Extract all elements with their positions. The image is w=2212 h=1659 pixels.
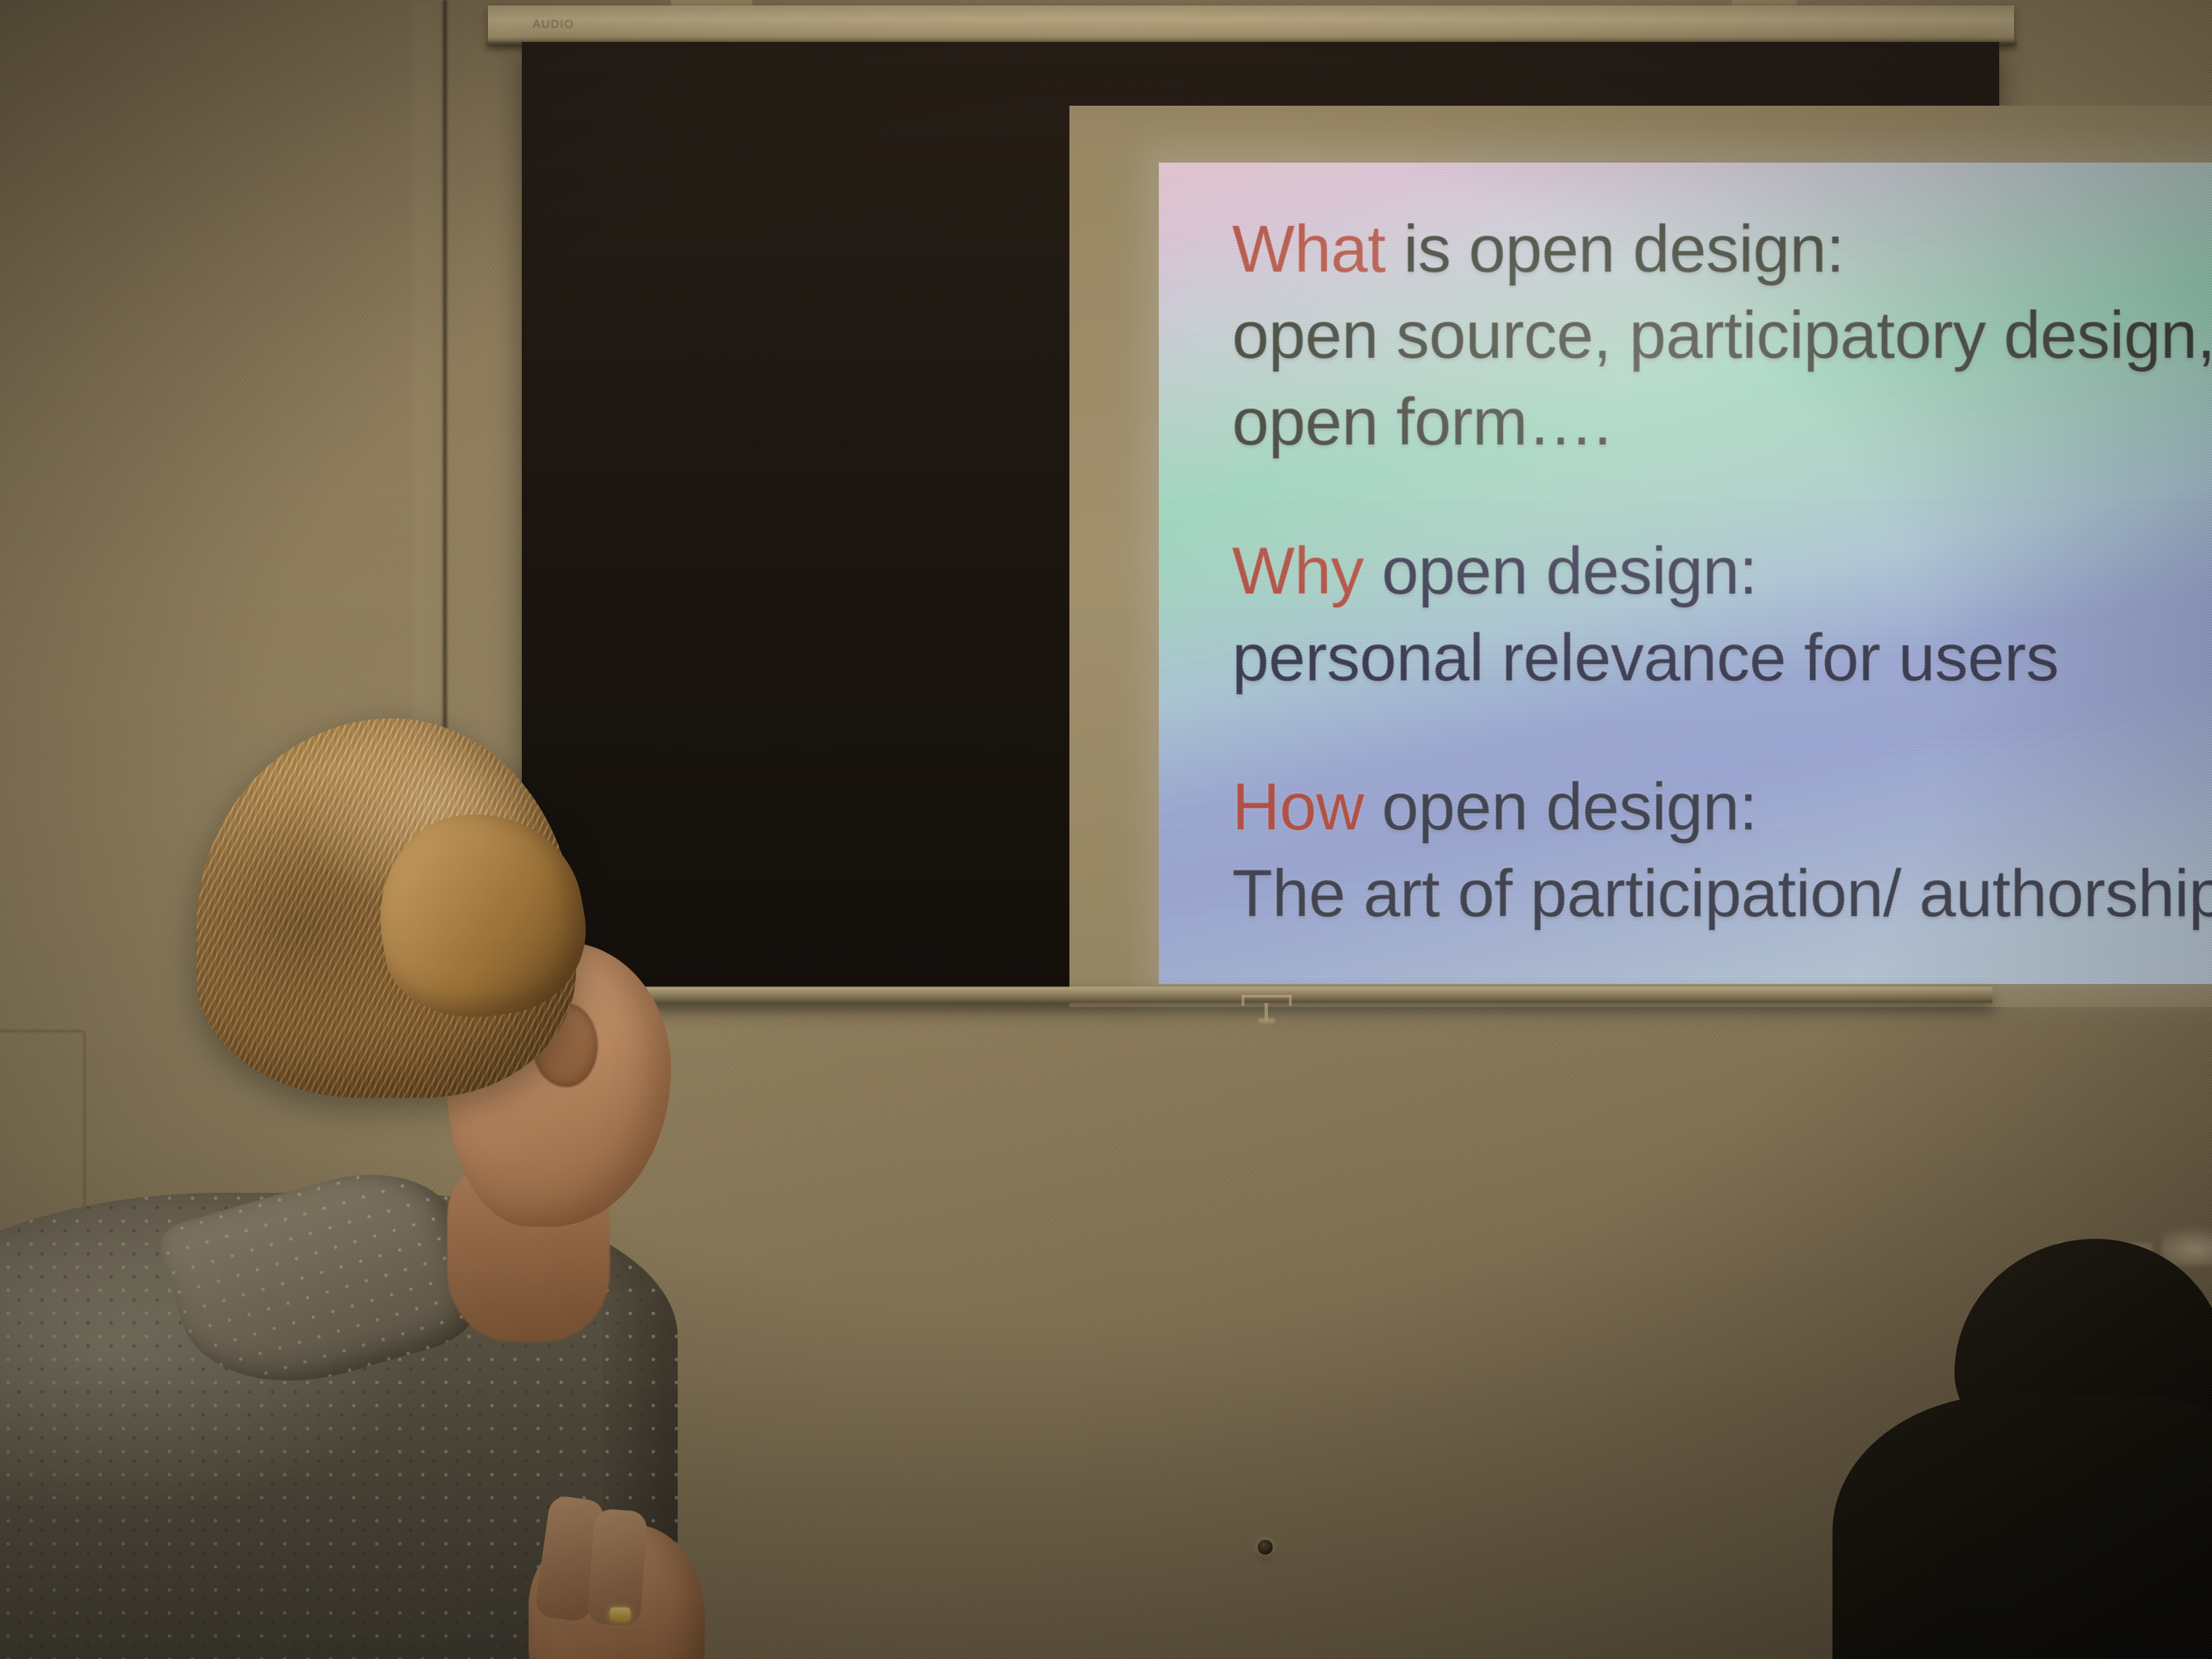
projector-screen-housing[interactable]: AUDIO [488, 5, 2014, 45]
projected-slide: What is open design: open source, partic… [1159, 163, 2212, 984]
wall-panel-highlight [413, 0, 454, 834]
screen-pull-handle[interactable] [1242, 995, 1292, 1022]
handle-bar [1242, 995, 1292, 998]
slide-keyword-why: Why [1232, 533, 1364, 608]
wall-panel-seam [442, 0, 448, 834]
slide-heading-rest-how: open design: [1364, 769, 1757, 844]
slide-line-why-1: personal relevance for users [1232, 615, 2212, 701]
slide-text-body: What is open design: open source, partic… [1232, 206, 2212, 937]
slide-heading-rest-what: is open design: [1385, 211, 1844, 286]
slide-block-what: What is open design: open source, partic… [1232, 206, 2212, 465]
slide-heading-what: What is open design: [1232, 206, 2212, 292]
silhouette-hair-highlight [2162, 1225, 2212, 1266]
handle-arm-right [1289, 995, 1292, 1006]
housing-brand-label: AUDIO [533, 18, 574, 31]
slide-heading-how: How open design: [1232, 764, 2212, 850]
handle-arm-left [1242, 995, 1244, 1006]
photo-scene: AUDIO What is open design: open source, … [0, 0, 2212, 1659]
slide-heading-rest-why: open design: [1364, 533, 1757, 608]
slide-block-why: Why open design: personal relevance for … [1232, 528, 2212, 701]
slide-line-what-1: open source, participatory design, [1232, 292, 2212, 378]
wall-screw [1258, 1540, 1273, 1555]
foreground-person [0, 718, 773, 1659]
person-ring [610, 1607, 630, 1621]
slide-line-how-1: The art of participation/ authorship [1232, 851, 2212, 937]
right-silhouette-person [1832, 1225, 2212, 1659]
slide-block-how: How open design: The art of participatio… [1232, 764, 2212, 937]
slide-keyword-how: How [1232, 769, 1364, 844]
slide-line-what-2: open form…. [1232, 379, 2212, 465]
silhouette-body [1832, 1395, 2212, 1659]
slide-heading-why: Why open design: [1232, 528, 2212, 614]
slide-keyword-what: What [1232, 211, 1385, 286]
handle-tip [1258, 1018, 1275, 1023]
